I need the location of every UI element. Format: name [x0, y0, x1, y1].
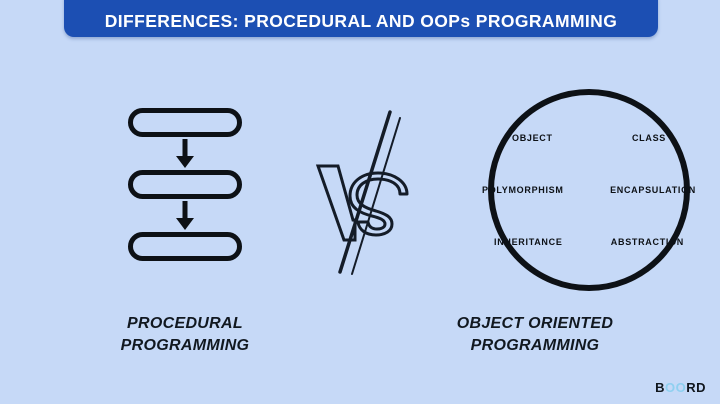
- board-logo: B OO RD: [655, 381, 706, 394]
- oop-concept-encapsulation: ENCAPSULATION: [610, 185, 696, 195]
- title-banner: DIFFERENCES: PROCEDURAL AND OOPs PROGRAM…: [64, 0, 658, 37]
- procedural-panel: [40, 108, 330, 261]
- flowchart-step-1: [128, 108, 242, 137]
- procedural-caption: PROCEDURAL PROGRAMMING: [40, 313, 330, 356]
- down-arrow-icon: [174, 200, 196, 231]
- oop-caption: OBJECT ORIENTED PROGRAMMING: [390, 313, 680, 356]
- oop-concepts-group: OBJECT CLASS POLYMORPHISM ENCAPSULATION …: [482, 89, 696, 291]
- logo-part-b: B: [655, 381, 665, 394]
- logo-part-rd: RD: [686, 381, 706, 394]
- down-arrow-icon: [174, 138, 196, 169]
- oop-caption-line-1: OBJECT ORIENTED: [390, 313, 680, 335]
- oop-concept-row: INHERITANCE ABSTRACTION: [482, 216, 696, 268]
- oop-concept-polymorphism: POLYMORPHISM: [482, 185, 564, 195]
- oop-concept-row: OBJECT CLASS: [482, 112, 696, 164]
- flowchart-step-2: [128, 170, 242, 199]
- procedural-caption-line-1: PROCEDURAL: [40, 313, 330, 335]
- oop-concept-class: CLASS: [632, 133, 666, 143]
- procedural-caption-line-2: PROGRAMMING: [40, 335, 330, 357]
- versus-icon: [312, 108, 424, 276]
- flowchart-step-3: [128, 232, 242, 261]
- oop-concept-object: OBJECT: [512, 133, 553, 143]
- oop-caption-line-2: PROGRAMMING: [390, 335, 680, 357]
- oop-concept-abstraction: ABSTRACTION: [611, 237, 684, 247]
- page-title: DIFFERENCES: PROCEDURAL AND OOPs PROGRAM…: [105, 13, 618, 31]
- oop-concept-inheritance: INHERITANCE: [494, 237, 563, 247]
- logo-part-oo: OO: [665, 381, 686, 394]
- oop-concept-row: POLYMORPHISM ENCAPSULATION: [482, 164, 696, 216]
- procedural-flowchart: [40, 108, 330, 261]
